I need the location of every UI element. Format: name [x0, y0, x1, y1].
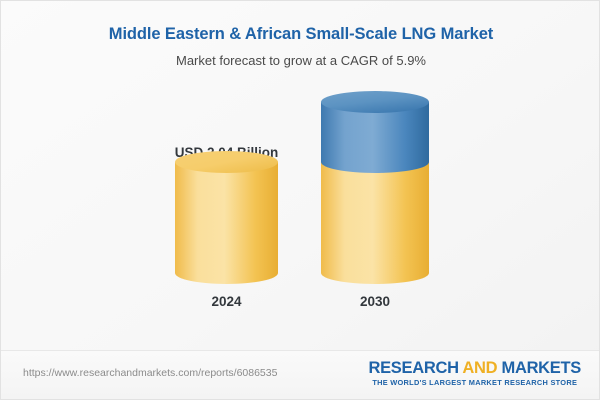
infographic-card: Middle Eastern & African Small-Scale LNG… [0, 0, 600, 400]
logo-word-research: RESEARCH [368, 359, 462, 377]
logo-word-and: AND [462, 359, 497, 377]
category-label-2030: 2030 [360, 294, 390, 309]
report-url[interactable]: https://www.researchandmarkets.com/repor… [23, 367, 277, 379]
category-label-2024: 2024 [211, 294, 241, 309]
logo-tagline: THE WORLD'S LARGEST MARKET RESEARCH STOR… [368, 378, 581, 387]
cylinder-bar-2030 [321, 91, 429, 284]
cylinder-bar-2024 [175, 151, 278, 284]
logo-word-markets: MARKETS [497, 359, 581, 377]
chart-plot-area: USD 2.04 Billion [1, 1, 600, 351]
logo-wordmark: RESEARCH AND MARKETS [368, 360, 581, 377]
research-and-markets-logo[interactable]: RESEARCH AND MARKETS THE WORLD'S LARGEST… [368, 360, 581, 387]
footer-bar: https://www.researchandmarkets.com/repor… [1, 350, 600, 399]
